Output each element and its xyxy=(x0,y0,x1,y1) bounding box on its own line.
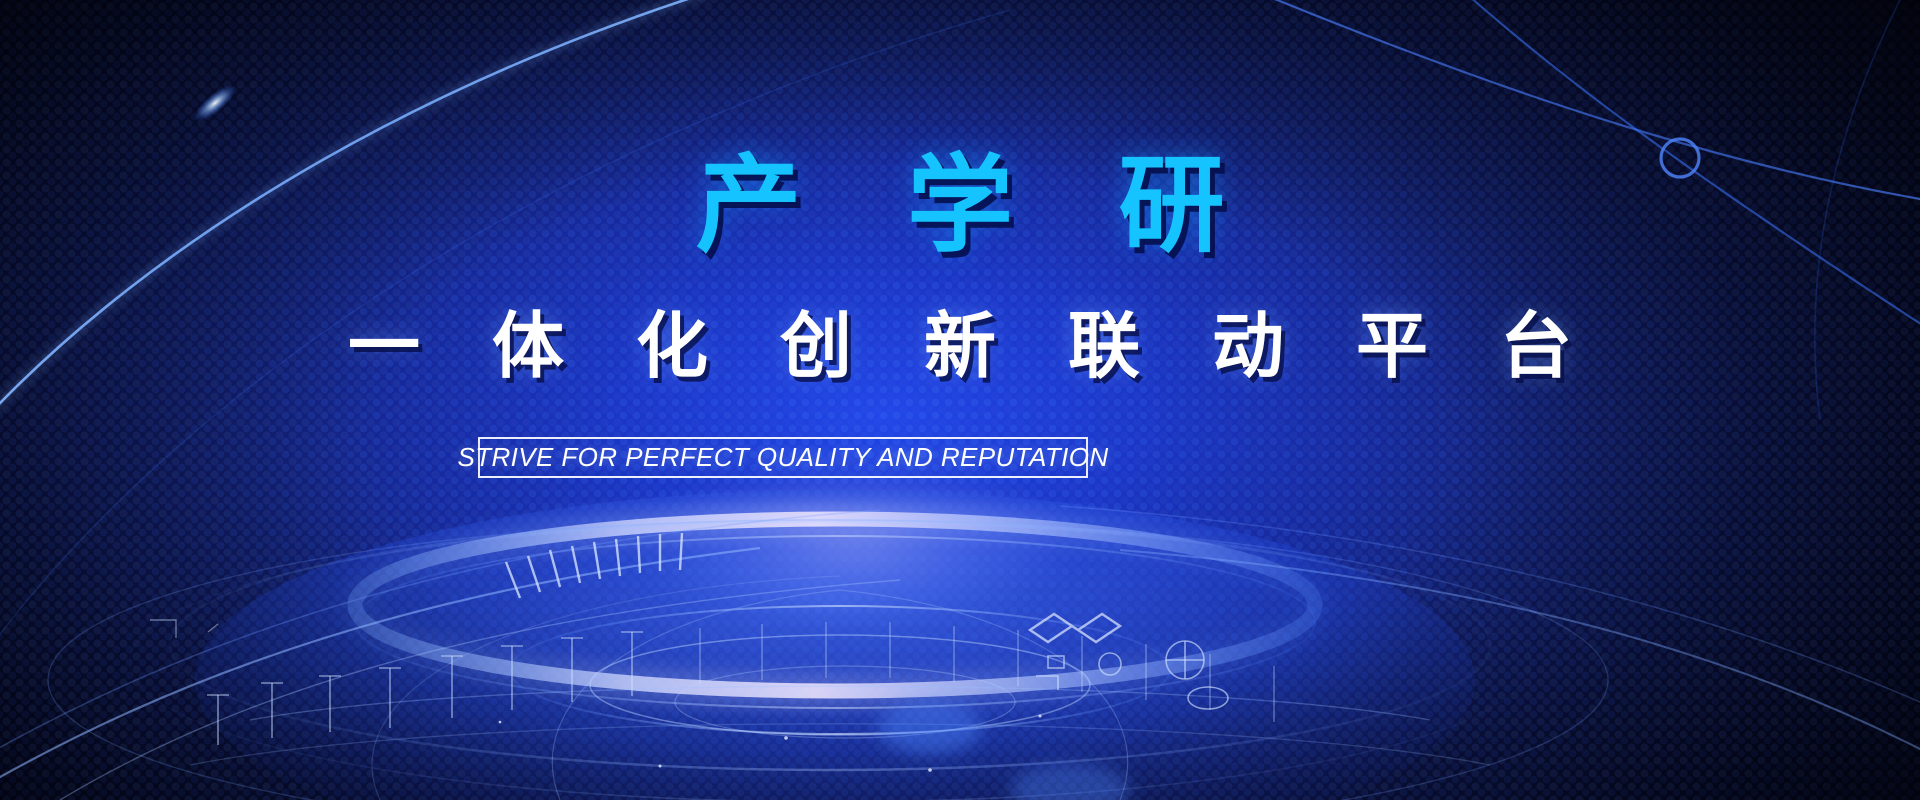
page-title-primary: 产 学 研 xyxy=(0,150,1920,262)
tagline-text: STRIVE FOR PERFECT QUALITY AND REPUTATIO… xyxy=(457,442,1108,473)
banner-content: 产 学 研 一 体 化 创 新 联 动 平 台 STRIVE FOR PERFE… xyxy=(0,0,1920,800)
page-title-secondary: 一 体 化 创 新 联 动 平 台 xyxy=(0,308,1920,386)
hero-banner: 产 学 研 一 体 化 创 新 联 动 平 台 STRIVE FOR PERFE… xyxy=(0,0,1920,800)
tagline-box: STRIVE FOR PERFECT QUALITY AND REPUTATIO… xyxy=(478,437,1088,478)
